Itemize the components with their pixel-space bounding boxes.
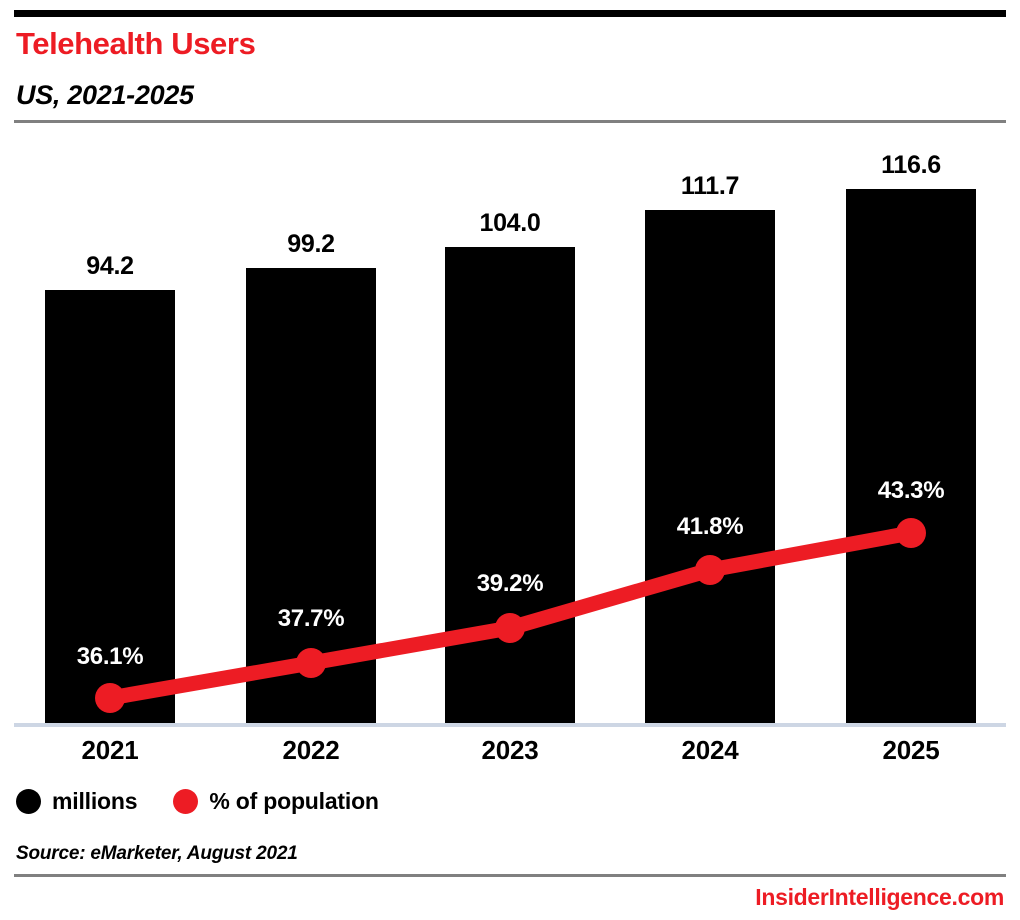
bar-2022 [246, 268, 376, 723]
bar-value-label-2025: 116.6 [846, 151, 976, 180]
percent-label-2025: 43.3% [831, 477, 991, 505]
legend-label-millions: millions [52, 788, 137, 815]
bar-2024 [645, 210, 775, 723]
x-axis-tick-2024: 2024 [630, 735, 790, 766]
legend-item-percent-of-population: % of population [173, 788, 378, 815]
bar-2025 [846, 189, 976, 723]
plot-area: 94.299.2104.0111.7116.636.1%37.7%39.2%41… [0, 0, 1020, 920]
footer-divider [14, 874, 1006, 877]
percent-label-2024: 41.8% [630, 513, 790, 541]
bar-value-label-2021: 94.2 [45, 252, 175, 281]
x-axis-tick-2025: 2025 [831, 735, 991, 766]
bar-value-label-2023: 104.0 [445, 209, 575, 238]
legend-label-percent-of-population: % of population [209, 788, 378, 815]
bar-value-label-2024: 111.7 [645, 172, 775, 201]
legend-item-millions: millions [16, 788, 137, 815]
source-note: Source: eMarketer, August 2021 [16, 843, 298, 865]
bar-value-label-2022: 99.2 [246, 230, 376, 259]
x-axis-tick-2023: 2023 [430, 735, 590, 766]
chart-canvas: Telehealth Users US, 2021-2025 94.299.21… [0, 0, 1020, 920]
x-axis-line [14, 723, 1006, 727]
x-axis-tick-2021: 2021 [30, 735, 190, 766]
circle-marker-red-icon [173, 789, 198, 814]
percent-label-2023: 39.2% [430, 570, 590, 598]
circle-marker-black-icon [16, 789, 41, 814]
percent-label-2022: 37.7% [231, 605, 391, 633]
chart-legend: millions % of population [16, 788, 379, 815]
brand-wordmark[interactable]: InsiderIntelligence.com [755, 884, 1004, 911]
x-axis-tick-2022: 2022 [231, 735, 391, 766]
percent-label-2021: 36.1% [30, 643, 190, 671]
bar-2023 [445, 247, 575, 723]
